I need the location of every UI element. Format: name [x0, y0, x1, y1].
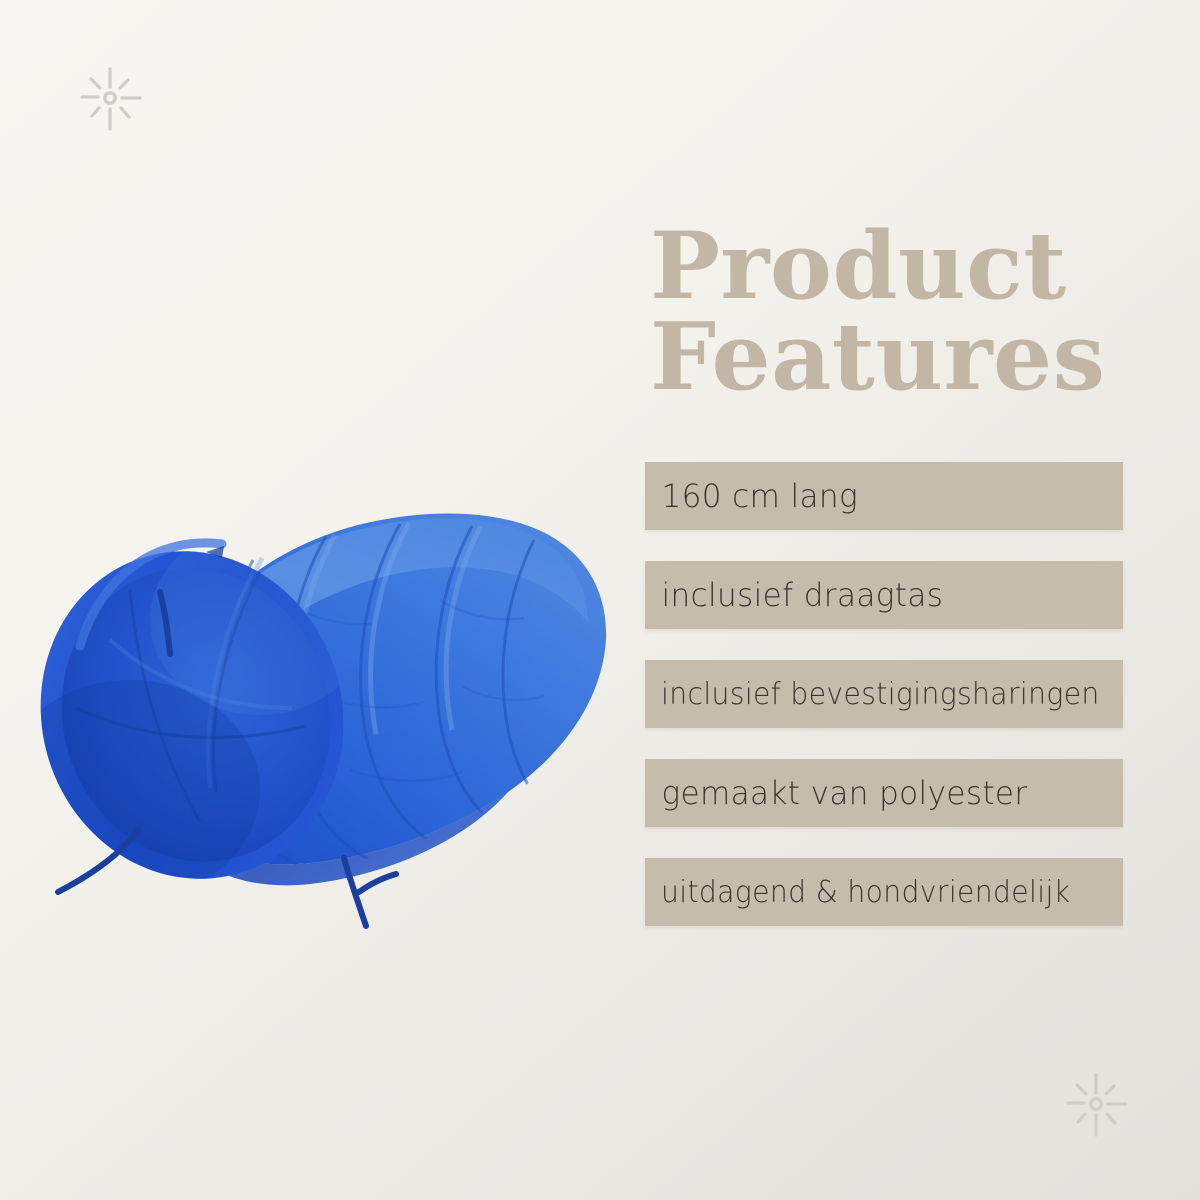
- feature-list: 160 cm lang inclusief draagtas inclusief…: [645, 462, 1123, 926]
- product-image: [10, 440, 650, 950]
- feature-label: 160 cm lang: [645, 477, 866, 515]
- feature-bar: inclusief draagtas: [645, 561, 1123, 629]
- product-feature-card: Product Features 160 cm lang inclusief d…: [0, 0, 1200, 1200]
- feature-bar: gemaakt van polyester: [645, 759, 1123, 827]
- feature-label: gemaakt van polyester: [645, 774, 1035, 812]
- sparkle-icon: [74, 62, 146, 134]
- feature-bar: inclusief bevestigingsharingen: [645, 660, 1123, 728]
- feature-bar: 160 cm lang: [645, 462, 1123, 530]
- feature-label: uitdagend & hondvriendelijk: [645, 875, 1078, 910]
- feature-bar: uitdagend & hondvriendelijk: [645, 858, 1123, 926]
- page-title: Product Features: [650, 220, 1170, 402]
- feature-label: inclusief draagtas: [645, 576, 951, 614]
- sparkle-icon: [1060, 1068, 1132, 1140]
- feature-label: inclusief bevestigingsharingen: [645, 677, 1107, 712]
